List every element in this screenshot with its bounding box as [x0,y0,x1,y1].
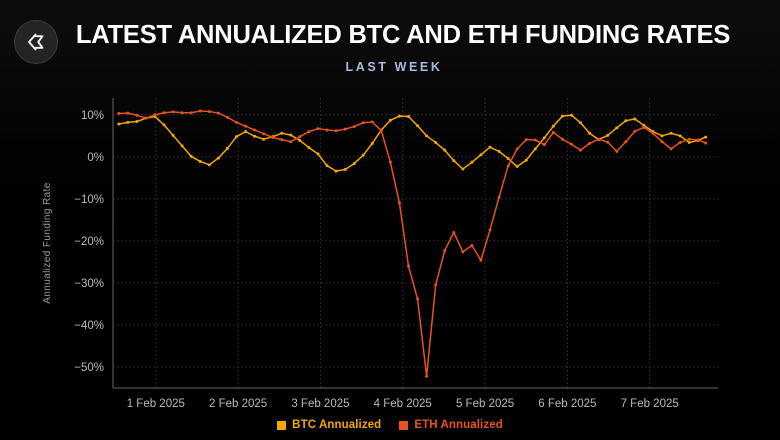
data-point [307,146,310,149]
data-point [488,228,491,231]
data-point [615,150,618,153]
data-point [552,125,555,128]
y-tick-label: 10% [81,110,104,122]
data-point [398,115,401,118]
data-point [461,250,464,253]
data-point [235,135,238,138]
data-point [163,111,166,114]
data-point [543,143,546,146]
funding-rate-line-chart: 10%0%−10%−20%−30%−40%−50% 1 Feb 20252 Fe… [0,0,780,440]
x-tick-labels: 1 Feb 20252 Feb 20253 Feb 20254 Feb 2025… [127,398,679,410]
data-point [670,132,673,135]
data-point [126,121,129,124]
data-point [416,124,419,127]
data-point [208,163,211,166]
data-point [470,244,473,247]
x-tick-label: 3 Feb 2025 [291,398,349,410]
data-point [552,131,555,134]
data-point [163,123,166,126]
data-point [271,136,274,139]
legend-item-btc[interactable]: BTC Annualized [277,419,381,431]
y-tick-label: 0% [87,152,104,164]
data-point [262,138,265,141]
data-point [298,135,301,138]
data-point [588,132,591,135]
data-point [126,112,129,115]
data-point [443,249,446,252]
data-point [425,134,428,137]
y-axis-title: Annualized Funding Rate [42,182,53,304]
data-point [244,130,247,133]
data-point [534,139,537,142]
data-point [651,132,654,135]
data-point [679,134,682,137]
data-point [697,139,700,142]
data-point [407,115,410,118]
data-point [316,152,319,155]
data-point [525,138,528,141]
chart-container: 10%0%−10%−20%−30%−40%−50% 1 Feb 20252 Fe… [0,0,780,440]
data-point [335,129,338,132]
x-tick-label: 4 Feb 2025 [374,398,432,410]
data-point [253,128,256,131]
data-point [561,138,564,141]
legend-label-eth: ETH Annualized [414,419,503,431]
data-point [172,134,175,137]
data-point [344,128,347,131]
y-tick-label: −40% [74,320,104,332]
data-point [624,140,627,143]
data-point [642,126,645,129]
data-point [633,118,636,121]
x-tick-label: 7 Feb 2025 [621,398,679,410]
data-point [507,157,510,160]
data-point [561,115,564,118]
data-point [679,141,682,144]
y-tick-labels: 10%0%−10%−20%−30%−40%−50% [74,110,104,374]
data-point [190,111,193,114]
data-point [588,142,591,145]
data-point [362,154,365,157]
data-point [479,259,482,262]
data-point [452,231,455,234]
data-point [606,134,609,137]
data-point [244,125,247,128]
data-point [704,136,707,139]
data-point [335,170,338,173]
data-point [407,265,410,268]
data-point [704,141,707,144]
data-point [135,114,138,117]
chart-legend: BTC Annualized ETH Annualized [0,419,780,431]
y-tick-label: −50% [74,362,104,374]
chart-page: LATEST ANNUALIZED BTC AND ETH FUNDING RA… [0,0,780,440]
data-point [316,127,319,130]
data-point [298,139,301,142]
data-point [253,135,256,138]
data-point [280,132,283,135]
data-point [326,164,329,167]
legend-label-btc: BTC Annualized [292,419,381,431]
data-point [416,297,419,300]
data-point [570,143,573,146]
data-point [172,110,175,113]
data-point [199,160,202,163]
data-point [534,147,537,150]
data-point [389,161,392,164]
data-point [688,141,691,144]
data-point [262,132,265,135]
data-point [190,155,193,158]
data-point [235,121,238,124]
data-point [280,138,283,141]
data-point [633,130,636,133]
data-point [479,153,482,156]
data-point [434,141,437,144]
data-point [144,117,147,120]
data-point [371,142,374,145]
x-tick-label: 1 Feb 2025 [127,398,185,410]
data-point [615,126,618,129]
data-point [443,149,446,152]
data-point [516,147,519,150]
data-point [498,196,501,199]
data-point [226,116,229,119]
data-point [117,112,120,115]
x-tick-label: 2 Feb 2025 [209,398,267,410]
data-point [488,146,491,149]
data-point [597,138,600,141]
y-tick-label: −20% [74,236,104,248]
data-point [434,284,437,287]
data-point [661,134,664,137]
series-lines [117,110,707,378]
data-point [398,202,401,205]
data-point [307,130,310,133]
data-point [153,113,156,116]
data-point [470,161,473,164]
data-point [181,144,184,147]
data-point [579,121,582,124]
data-point [661,140,664,143]
square-swatch-icon [399,421,408,430]
data-point [380,129,383,132]
data-point [516,165,519,168]
data-point [389,119,392,122]
y-tick-label: −10% [74,194,104,206]
data-point [371,120,374,123]
square-swatch-icon [277,421,286,430]
x-tick-label: 6 Feb 2025 [538,398,596,410]
data-point [624,119,627,122]
data-point [570,114,573,117]
data-point [217,112,220,115]
data-point [289,140,292,143]
data-point [606,141,609,144]
data-point [507,165,510,168]
data-point [353,162,356,165]
data-point [579,149,582,152]
data-point [208,110,211,113]
data-point [344,168,347,171]
y-tick-label: −30% [74,278,104,290]
data-point [670,147,673,150]
legend-item-eth[interactable]: ETH Annualized [399,419,503,431]
y-axis-label: Annualized Funding Rate [42,182,53,304]
data-point [498,150,501,153]
data-point [452,159,455,162]
x-tick-label: 5 Feb 2025 [456,398,514,410]
data-point [543,136,546,139]
data-point [362,121,365,124]
data-point [289,133,292,136]
data-point [226,147,229,150]
data-point [353,125,356,128]
data-point [461,168,464,171]
data-point [199,110,202,113]
data-point [525,159,528,162]
series-line-btc [119,115,706,171]
data-point [135,120,138,123]
data-point [326,128,329,131]
data-point [117,123,120,126]
data-point [181,111,184,114]
data-point [217,157,220,160]
data-point [425,375,428,378]
data-point [688,138,691,141]
